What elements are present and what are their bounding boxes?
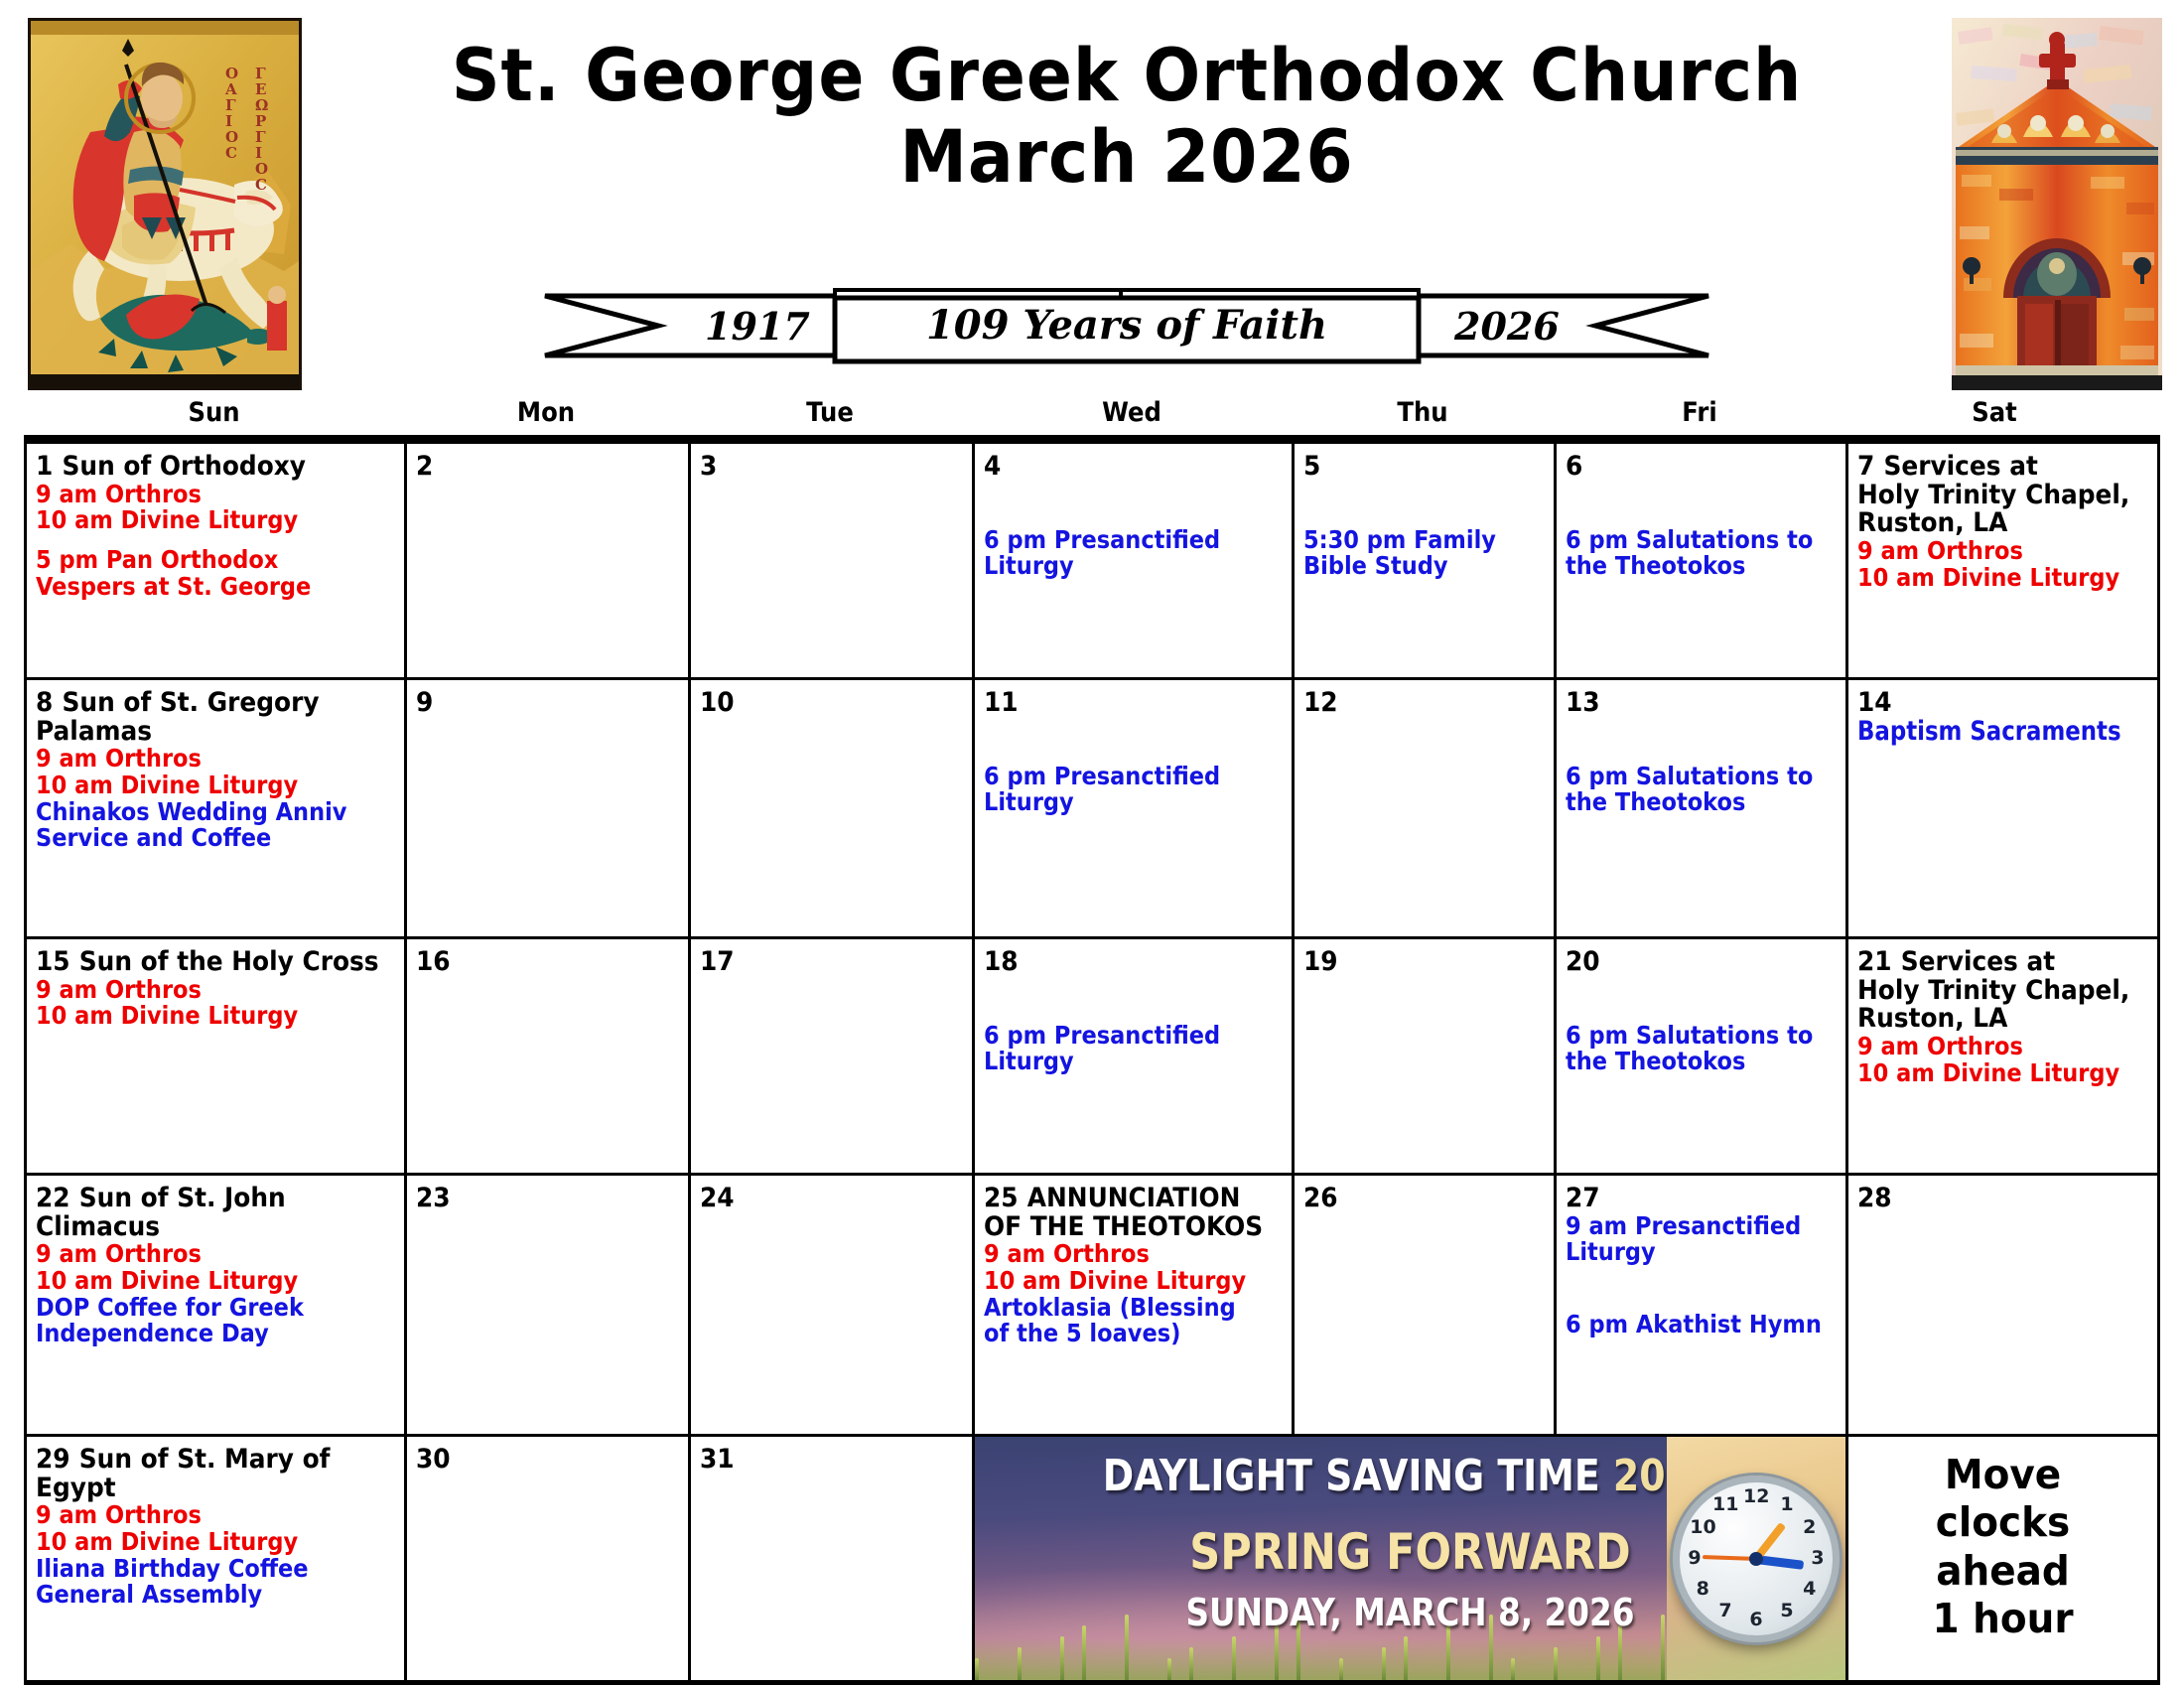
day-cell-2[interactable]: 2 [407, 444, 691, 677]
day-headline: 28 [1857, 1185, 2147, 1213]
day-cell-8[interactable]: 8Sun of St. GregoryPalamas9 am Orthros10… [27, 680, 407, 936]
day-name-wed: Wed [988, 397, 1276, 435]
day-headline: 3 [700, 453, 962, 482]
day-cell-27[interactable]: 279 am PresanctifiedLiturgy6 pm Akathist… [1557, 1176, 1848, 1434]
day-event: the Theotokos [1566, 789, 1838, 816]
day-number: 13 [1566, 687, 1600, 718]
day-headline: 15Sun of the Holy Cross [36, 948, 394, 977]
day-number: 31 [700, 1444, 735, 1475]
day-number: 16 [416, 946, 451, 977]
dst-grass-tuft [1060, 1636, 1064, 1680]
day-event: 6 pm Salutations to [1566, 1023, 1838, 1050]
day-number: 11 [984, 687, 1019, 718]
day-number: 24 [700, 1183, 735, 1213]
day-headline: 23 [416, 1185, 678, 1213]
day-headline: 12 [1303, 689, 1544, 718]
day-event: Iliana Birthday Coffee [36, 1556, 396, 1583]
day-number: 21 [1857, 946, 1892, 977]
church-title: St. George Greek Orthodox Church [383, 40, 1869, 113]
day-title-line: Ruston, LA [1857, 509, 2147, 538]
day-name-fri: Fri [1569, 397, 1832, 435]
dst-grass-tuft [975, 1658, 979, 1680]
day-number: 12 [1303, 687, 1338, 718]
day-event: 6 pm Presanctified [984, 764, 1284, 790]
day-cell-28[interactable]: 28 [1848, 1176, 2157, 1434]
calendar-week-row: 1Sun of Orthodoxy9 am Orthros10 am Divin… [27, 444, 2157, 680]
calendar-week-row: 15Sun of the Holy Cross9 am Orthros10 am… [27, 939, 2157, 1176]
svg-text:C: C [225, 144, 237, 162]
day-number: 6 [1566, 451, 1582, 482]
day-cell-11[interactable]: 116 pm PresanctifiedLiturgy [975, 680, 1295, 936]
day-headline: 25ANNUNCIATION [984, 1185, 1282, 1213]
day-cell-9[interactable]: 9 [407, 680, 691, 936]
calendar-page: ΟΑΓ ΙΟC ΓΕΩ ΡΓΙ ΟC St. George Greek Orth… [0, 0, 2184, 1688]
day-number: 28 [1857, 1183, 1892, 1213]
day-event: the Theotokos [1566, 1049, 1838, 1075]
ribbon-center-text: 109 Years of Faith [844, 302, 1410, 349]
day-title-line: Climacus [36, 1213, 394, 1242]
day-headline: 24 [700, 1185, 962, 1213]
clock-number-6: 6 [1743, 1609, 1769, 1630]
dst-grass-tuft [1511, 1658, 1515, 1680]
day-event: DOP Coffee for Greek [36, 1295, 396, 1322]
day-event: Service and Coffee [36, 825, 396, 852]
day-number: 25 [984, 1183, 1019, 1213]
analog-clock-icon: 121234567891011 [1673, 1476, 1840, 1642]
calendar-week-row: 8Sun of St. GregoryPalamas9 am Orthros10… [27, 680, 2157, 939]
move-clocks-line: Move [1861, 1451, 2143, 1498]
day-event: 9 am Orthros [36, 977, 396, 1004]
spacer [1566, 482, 1838, 527]
day-cell-3[interactable]: 3 [691, 444, 975, 677]
spacer [1566, 1266, 1838, 1312]
day-headline: 8Sun of St. Gregory [36, 689, 394, 718]
day-event: Liturgy [984, 553, 1284, 580]
day-event: 10 am Divine Liturgy [1857, 1060, 2149, 1087]
clock-center-pin [1749, 1552, 1763, 1566]
day-event: Independence Day [36, 1321, 396, 1347]
day-cell-30[interactable]: 30 [407, 1437, 691, 1680]
day-headline: 5 [1303, 453, 1544, 482]
day-headline: 16 [416, 948, 678, 977]
day-cell-31[interactable]: 31 [691, 1437, 975, 1680]
spacer [984, 977, 1284, 1023]
day-title: ANNUNCIATION [1027, 1183, 1241, 1213]
day-cell-7[interactable]: 7Services atHoly Trinity Chapel,Ruston, … [1848, 444, 2157, 677]
day-headline: 31 [700, 1446, 962, 1475]
dst-grass-tuft [1232, 1636, 1236, 1680]
page-header: ΟΑΓ ΙΟC ΓΕΩ ΡΓΙ ΟC St. George Greek Orth… [0, 0, 2184, 397]
day-event: the Theotokos [1566, 553, 1838, 580]
day-headline: 9 [416, 689, 678, 718]
day-event: 10 am Divine Liturgy [1857, 565, 2149, 592]
day-event: 9 am Orthros [36, 746, 396, 773]
day-cell-24[interactable]: 24 [691, 1176, 975, 1434]
dst-grass-tuft [1339, 1658, 1343, 1680]
church-facade-painting [1952, 18, 2162, 390]
day-title: Sun of St. Gregory [62, 687, 319, 718]
day-number: 17 [700, 946, 735, 977]
day-headline: 26 [1303, 1185, 1544, 1213]
day-event: 6 pm Salutations to [1566, 527, 1838, 554]
svg-text:C: C [255, 176, 267, 194]
day-headline: 17 [700, 948, 962, 977]
day-event: 10 am Divine Liturgy [36, 1003, 396, 1030]
day-name-sat: Sat [1860, 397, 2128, 435]
day-event: of the 5 loaves) [984, 1321, 1284, 1347]
ribbon-left-year: 1917 [705, 304, 810, 349]
day-cell-25[interactable]: 25ANNUNCIATIONOF THE THEOTOKOS9 am Orthr… [975, 1176, 1295, 1434]
dst-grass-tuft [1404, 1636, 1408, 1680]
day-cell-21[interactable]: 21Services atHoly Trinity Chapel,Ruston,… [1848, 939, 2157, 1173]
day-number: 8 [36, 687, 53, 718]
day-event: 9 am Orthros [36, 1502, 396, 1529]
day-event: 6 pm Presanctified [984, 527, 1284, 554]
day-headline: 13 [1566, 689, 1836, 718]
day-headline: 14Baptism Sacraments [1857, 689, 2147, 746]
st-george-icon: ΟΑΓ ΙΟC ΓΕΩ ΡΓΙ ΟC [28, 18, 302, 390]
day-event: 9 am Orthros [984, 1241, 1284, 1268]
day-headline: 18 [984, 948, 1282, 977]
day-headline: 1Sun of Orthodoxy [36, 453, 394, 482]
clock-number-11: 11 [1712, 1493, 1738, 1515]
day-number: 23 [416, 1183, 451, 1213]
day-number: 2 [416, 451, 433, 482]
dst-grass-tuft [1554, 1647, 1558, 1680]
day-headline: 11 [984, 689, 1282, 718]
clock-number-4: 4 [1797, 1578, 1823, 1600]
church-facade-art [1952, 18, 2162, 390]
day-event: Liturgy [1566, 1239, 1838, 1266]
day-name-tue: Tue [702, 397, 957, 435]
day-headline: 27 [1566, 1185, 1836, 1213]
day-cell-18[interactable]: 186 pm PresanctifiedLiturgy [975, 939, 1295, 1173]
st-george-icon-art: ΟΑΓ ΙΟC ΓΕΩ ΡΓΙ ΟC [31, 21, 302, 390]
clock-number-5: 5 [1774, 1600, 1800, 1621]
move-clocks-note: Moveclocksahead1 hour [1848, 1437, 2157, 1680]
day-name-thu: Thu [1304, 397, 1541, 435]
day-number: 15 [36, 946, 70, 977]
day-event: Bible Study [1303, 553, 1546, 580]
day-event: 5 pm Pan Orthodox [36, 547, 396, 574]
day-event: Artoklasia (Blessing [984, 1295, 1284, 1322]
day-title: Services at [1883, 451, 2037, 482]
clock-number-7: 7 [1712, 1600, 1738, 1621]
clock-number-10: 10 [1690, 1516, 1715, 1538]
day-number: 20 [1566, 946, 1600, 977]
day-cell-14[interactable]: 14Baptism Sacraments [1848, 680, 2157, 936]
day-number: 19 [1303, 946, 1338, 977]
ribbon-right-year: 2026 [1454, 304, 1560, 349]
day-event: 9 am Orthros [1857, 538, 2149, 565]
day-event: 6 pm Salutations to [1566, 764, 1838, 790]
dst-grass-tuft [1596, 1636, 1600, 1680]
day-title: Sun of Orthodoxy [62, 451, 305, 482]
day-headline: 6 [1566, 453, 1836, 482]
day-headline: 21Services at [1857, 948, 2147, 977]
spacer [1303, 482, 1546, 527]
clock-sec-hand [1703, 1555, 1756, 1561]
day-cell-4[interactable]: 46 pm PresanctifiedLiturgy [975, 444, 1295, 677]
day-number: 7 [1857, 451, 1874, 482]
day-event: 5:30 pm Family [1303, 527, 1546, 554]
day-event: 10 am Divine Liturgy [36, 773, 396, 799]
day-cell-6[interactable]: 66 pm Salutations tothe Theotokos [1557, 444, 1848, 677]
move-clocks-line: clocks [1861, 1498, 2143, 1546]
day-title: Services at [1901, 946, 2055, 977]
day-number: 4 [984, 451, 1001, 482]
clock-number-12: 12 [1743, 1485, 1769, 1507]
day-cell-17[interactable]: 17 [691, 939, 975, 1173]
dst-grass-tuft [1018, 1647, 1022, 1680]
move-clocks-line: 1 hour [1861, 1595, 2143, 1642]
day-headline: 2 [416, 453, 678, 482]
dst-grass-tuft [1167, 1658, 1171, 1680]
move-clocks-line: ahead [1861, 1547, 2143, 1595]
day-name-mon: Mon [418, 397, 673, 435]
dst-grass-tuft [1382, 1647, 1386, 1680]
calendar-week-row: 29Sun of St. Mary of Egypt9 am Orthros10… [27, 1437, 2157, 1680]
day-number: 3 [700, 451, 717, 482]
dst-grass-tuft [1189, 1647, 1193, 1680]
day-headline: 7Services at [1857, 453, 2147, 482]
day-event: 10 am Divine Liturgy [36, 507, 396, 534]
day-number: 30 [416, 1444, 451, 1475]
day-number: 27 [1566, 1183, 1600, 1213]
day-event: 9 am Orthros [1857, 1034, 2149, 1060]
title-block: St. George Greek Orthodox Church March 2… [328, 40, 1926, 196]
spacer [984, 482, 1284, 527]
spacer [1566, 977, 1838, 1023]
day-event: 10 am Divine Liturgy [36, 1268, 396, 1295]
clock-number-3: 3 [1805, 1547, 1831, 1569]
anniversary-ribbon: 1917 109 Years of Faith 2026 [541, 286, 1712, 365]
calendar-week-row: 22Sun of St. JohnClimacus9 am Orthros10 … [27, 1176, 2157, 1437]
day-headline: 29Sun of St. Mary of Egypt [36, 1446, 394, 1502]
day-event: Liturgy [984, 789, 1284, 816]
day-cell-29[interactable]: 29Sun of St. Mary of Egypt9 am Orthros10… [27, 1437, 407, 1680]
day-cell-20[interactable]: 206 pm Salutations tothe Theotokos [1557, 939, 1848, 1173]
day-name-sun: Sun [43, 397, 385, 435]
dst-clock-photo: 121234567891011 [1667, 1437, 1845, 1680]
day-event: 9 am Orthros [36, 482, 396, 508]
day-headline: 4 [984, 453, 1282, 482]
day-cell-10[interactable]: 10 [691, 680, 975, 936]
day-event: Liturgy [984, 1049, 1284, 1075]
day-event: General Assembly [36, 1582, 396, 1609]
day-headline: 30 [416, 1446, 678, 1475]
day-cell-22[interactable]: 22Sun of St. JohnClimacus9 am Orthros10 … [27, 1176, 407, 1434]
day-title: Sun of the Holy Cross [79, 946, 379, 977]
day-title-line: OF THE THEOTOKOS [984, 1213, 1282, 1242]
day-title-line: Palamas [36, 718, 394, 747]
day-title: Sun of St. John [79, 1183, 286, 1213]
clock-number-8: 8 [1690, 1578, 1715, 1600]
day-headline: 19 [1303, 948, 1544, 977]
day-number: 5 [1303, 451, 1320, 482]
day-title-line: Holy Trinity Chapel, [1857, 977, 2147, 1006]
day-title-line: Holy Trinity Chapel, [1857, 482, 2147, 510]
day-cell-12[interactable]: 12 [1295, 680, 1557, 936]
day-headline: 22Sun of St. John [36, 1185, 394, 1213]
month-title: March 2026 [383, 121, 1869, 195]
day-number: 26 [1303, 1183, 1338, 1213]
day-event: 6 pm Akathist Hymn [1566, 1312, 1838, 1338]
day-number: 22 [36, 1183, 70, 1213]
calendar-grid: 1Sun of Orthodoxy9 am Orthros10 am Divin… [24, 435, 2160, 1685]
day-title-blue: Baptism Sacraments [1857, 718, 2121, 747]
day-number: 14 [1857, 687, 1892, 718]
day-cell-15[interactable]: 15Sun of the Holy Cross9 am Orthros10 am… [27, 939, 407, 1173]
day-cell-23[interactable]: 23 [407, 1176, 691, 1434]
day-cell-16[interactable]: 16 [407, 939, 691, 1173]
clock-number-1: 1 [1774, 1493, 1800, 1515]
spacer [1566, 718, 1838, 764]
day-number: 18 [984, 946, 1019, 977]
day-name-row: SunMonTueWedThuFriSat [24, 397, 2160, 435]
day-number: 1 [36, 451, 53, 482]
day-event: 6 pm Presanctified [984, 1023, 1284, 1050]
day-cell-5[interactable]: 55:30 pm FamilyBible Study [1295, 444, 1557, 677]
day-event: 10 am Divine Liturgy [984, 1268, 1284, 1295]
day-cell-1[interactable]: 1Sun of Orthodoxy9 am Orthros10 am Divin… [27, 444, 407, 677]
day-cell-26[interactable]: 26 [1295, 1176, 1557, 1434]
day-title-line: Ruston, LA [1857, 1005, 2147, 1034]
clock-number-2: 2 [1797, 1516, 1823, 1538]
day-event: Vespers at St. George [36, 574, 396, 601]
spacer [984, 718, 1284, 764]
day-event: Chinakos Wedding Anniv [36, 799, 396, 826]
day-headline: 20 [1566, 948, 1836, 977]
day-number: 10 [700, 687, 735, 718]
day-event: 9 am Presanctified [1566, 1213, 1838, 1240]
day-cell-13[interactable]: 136 pm Salutations tothe Theotokos [1557, 680, 1848, 936]
day-number: 29 [36, 1444, 70, 1475]
day-title: Sun of St. Mary of Egypt [36, 1444, 330, 1503]
day-event: 10 am Divine Liturgy [36, 1529, 396, 1556]
day-event: 9 am Orthros [36, 1241, 396, 1268]
day-cell-19[interactable]: 19 [1295, 939, 1557, 1173]
day-number: 9 [416, 687, 433, 718]
day-headline: 10 [700, 689, 962, 718]
daylight-saving-banner: DAYLIGHT SAVING TIME 2026SPRING FORWARDS… [975, 1437, 1848, 1680]
